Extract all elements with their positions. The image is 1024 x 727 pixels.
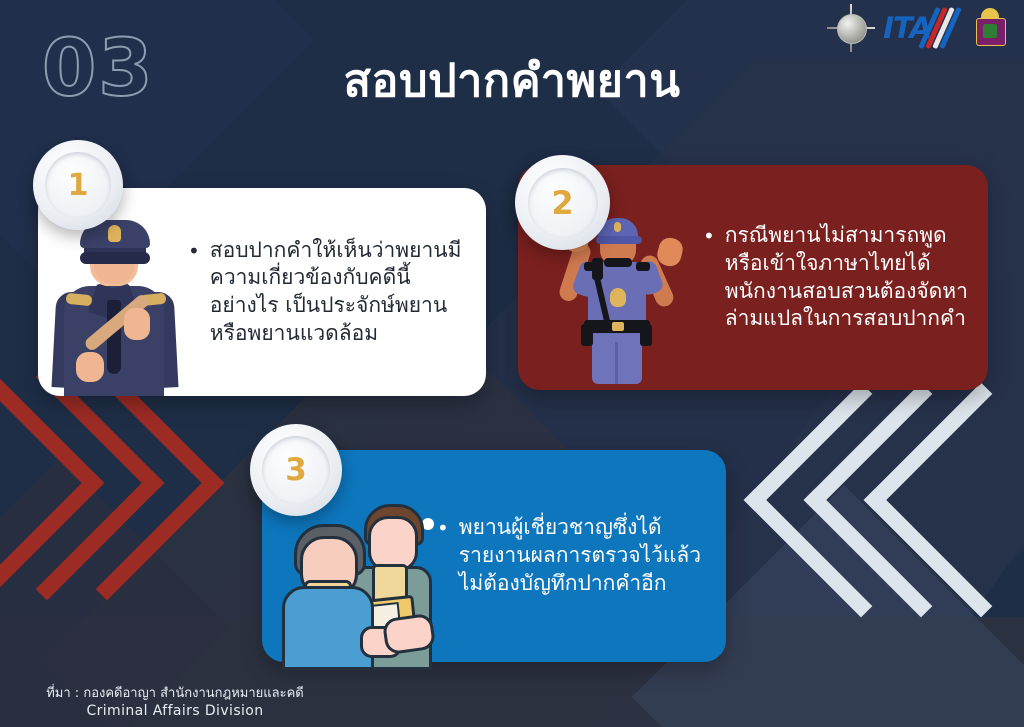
card-1-body-text: สอบปากคำให้เห็นว่าพยานมีความเกี่ยวข้องกั… bbox=[210, 237, 468, 348]
page-title: สอบปากคำพยาน bbox=[0, 44, 1024, 116]
card-1-text-block: • สอบปากคำให้เห็นว่าพยานมีความเกี่ยวข้อง… bbox=[188, 237, 486, 348]
chevron-arrows-left-decoration bbox=[0, 400, 204, 700]
bullet-icon: • bbox=[188, 237, 200, 264]
footer-source: ที่มา : กองคดีอาญา สำนักงานกฎหมายและคดี … bbox=[10, 685, 340, 721]
flag-swoosh-icon bbox=[922, 9, 962, 47]
step-badge-3: 3 bbox=[250, 424, 342, 516]
royal-crest-logo bbox=[972, 6, 1008, 50]
footer-source-thai: ที่มา : กองคดีอาญา สำนักงานกฎหมายและคดี bbox=[10, 685, 340, 703]
slide-root: 03 สอบปากคำพยาน ITA bbox=[0, 0, 1024, 727]
step-badge-1-number: 1 bbox=[45, 152, 111, 218]
chevron-arrows-right-decoration bbox=[724, 417, 1024, 727]
bullet-icon: • bbox=[437, 514, 449, 541]
ita-logo: ITA bbox=[883, 9, 962, 47]
step-badge-2: 2 bbox=[515, 155, 610, 250]
step-badge-3-number: 3 bbox=[262, 436, 330, 504]
card-2-body-text: กรณีพยานไม่สามารถพูดหรือเข้าใจภาษาไทยได้… bbox=[725, 222, 970, 333]
police-emblem-logo bbox=[829, 6, 873, 50]
step-badge-2-number: 2 bbox=[528, 168, 598, 238]
step-badge-1: 1 bbox=[33, 140, 123, 230]
footer-source-english: Criminal Affairs Division bbox=[10, 702, 340, 721]
bullet-icon: • bbox=[703, 222, 715, 249]
card-3-body-text: พยานผู้เชี่ยวชาญซึ่งได้รายงานผลการตรวจไว… bbox=[459, 514, 708, 597]
logo-group: ITA bbox=[829, 6, 1008, 50]
card-3-text-block: • พยานผู้เชี่ยวชาญซึ่งได้รายงานผลการตรวจ… bbox=[437, 514, 726, 597]
card-2-text-block: • กรณีพยานไม่สามารถพูดหรือเข้าใจภาษาไทยไ… bbox=[703, 222, 988, 333]
